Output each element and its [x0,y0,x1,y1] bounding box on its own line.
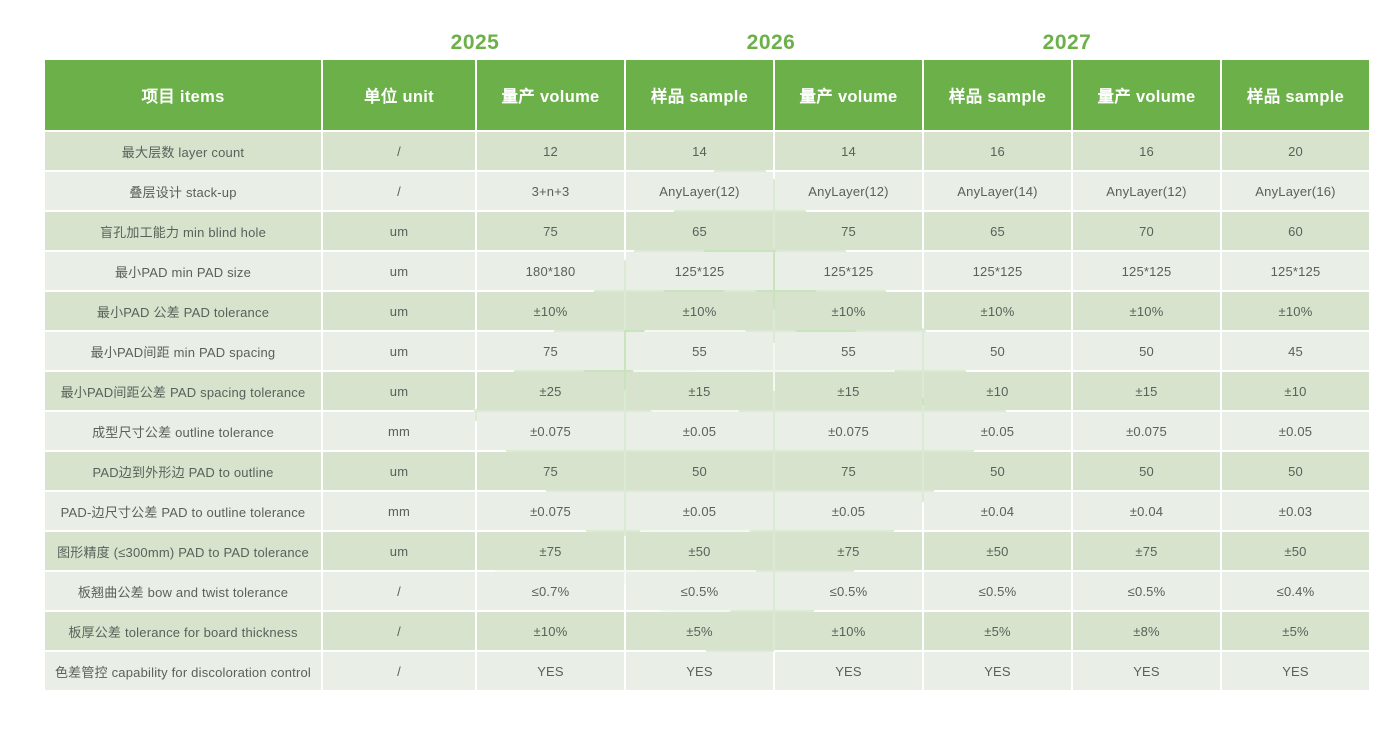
cell-2027-volume: AnyLayer(12) [1073,172,1220,210]
cell-2025-volume: 75 [477,332,624,370]
table-row: 最小PAD间距公差 PAD spacing toleranceum±25±15±… [45,372,1369,410]
cell-2026-volume: YES [775,652,922,690]
page-root: 2025 2026 2027 项目 items 单位 unit 量产 volum… [0,0,1400,728]
cell-2027-sample: 125*125 [1222,252,1369,290]
cell-2027-sample: 50 [1222,452,1369,490]
year-group-band: 2025 2026 2027 [45,28,1360,58]
cell-2025-sample: ±0.05 [626,412,773,450]
cell-2027-sample: 60 [1222,212,1369,250]
cell-2025-sample: ±5% [626,612,773,650]
cell-2027-volume: 125*125 [1073,252,1220,290]
cell-2025-volume: 12 [477,132,624,170]
cell-2027-sample: 20 [1222,132,1369,170]
cell-unit: um [323,372,475,410]
cell-2027-volume: 50 [1073,332,1220,370]
cell-2025-volume: ±0.075 [477,492,624,530]
cell-2026-volume: ±75 [775,532,922,570]
cell-unit: um [323,452,475,490]
cell-2026-volume: 75 [775,452,922,490]
cell-2026-sample: ±10% [924,292,1071,330]
table-row: 盲孔加工能力 min blind holeum756575657060 [45,212,1369,250]
cell-2027-sample: ±50 [1222,532,1369,570]
year-group-2027: 2027 [920,28,1214,58]
cell-2026-volume: 14 [775,132,922,170]
year-group-2026: 2026 [624,28,918,58]
cell-2025-volume: 75 [477,452,624,490]
cell-2026-volume: AnyLayer(12) [775,172,922,210]
cell-2025-volume: 180*180 [477,252,624,290]
cell-unit: mm [323,492,475,530]
cell-2026-sample: ±10 [924,372,1071,410]
cell-item: 最小PAD间距 min PAD spacing [45,332,321,370]
cell-unit: / [323,172,475,210]
cell-2025-volume: 3+n+3 [477,172,624,210]
cell-item: 最小PAD间距公差 PAD spacing tolerance [45,372,321,410]
table-row: 成型尺寸公差 outline tolerancemm±0.075±0.05±0.… [45,412,1369,450]
column-header-2026-sample: 样品 sample [924,60,1071,130]
spec-table: 项目 items 单位 unit 量产 volume 样品 sample 量产 … [43,58,1371,692]
cell-2026-sample: 125*125 [924,252,1071,290]
cell-2027-volume: 70 [1073,212,1220,250]
cell-item: PAD-边尺寸公差 PAD to outline tolerance [45,492,321,530]
column-header-item: 项目 items [45,60,321,130]
cell-item: 板厚公差 tolerance for board thickness [45,612,321,650]
cell-2025-sample: 50 [626,452,773,490]
cell-2026-sample: ±0.04 [924,492,1071,530]
cell-2027-sample: ±0.03 [1222,492,1369,530]
cell-2027-volume: ±15 [1073,372,1220,410]
cell-2025-sample: ≤0.5% [626,572,773,610]
cell-2027-sample: ≤0.4% [1222,572,1369,610]
cell-item: 盲孔加工能力 min blind hole [45,212,321,250]
cell-2026-volume: ±0.05 [775,492,922,530]
cell-2026-sample: 50 [924,452,1071,490]
cell-unit: mm [323,412,475,450]
column-header-2025-sample: 样品 sample [626,60,773,130]
cell-2025-sample: 55 [626,332,773,370]
cell-2027-volume: ±0.075 [1073,412,1220,450]
cell-2026-sample: AnyLayer(14) [924,172,1071,210]
cell-2025-sample: 14 [626,132,773,170]
cell-2025-volume: ±0.075 [477,412,624,450]
cell-item: 图形精度 (≤300mm) PAD to PAD tolerance [45,532,321,570]
cell-2025-sample: ±10% [626,292,773,330]
cell-2025-volume: ±10% [477,612,624,650]
cell-2027-sample: ±5% [1222,612,1369,650]
table-header: 项目 items 单位 unit 量产 volume 样品 sample 量产 … [45,60,1369,130]
cell-2025-volume: ±10% [477,292,624,330]
cell-2025-volume: 75 [477,212,624,250]
cell-2027-sample: 45 [1222,332,1369,370]
cell-2026-sample: ±5% [924,612,1071,650]
cell-2026-sample: 16 [924,132,1071,170]
table-row: 色差管控 capability for discoloration contro… [45,652,1369,690]
cell-2027-volume: ±0.04 [1073,492,1220,530]
cell-item: 成型尺寸公差 outline tolerance [45,412,321,450]
cell-unit: / [323,572,475,610]
table-row: 最小PAD间距 min PAD spacingum755555505045 [45,332,1369,370]
table-row: 图形精度 (≤300mm) PAD to PAD toleranceum±75±… [45,532,1369,570]
cell-item: 色差管控 capability for discoloration contro… [45,652,321,690]
table-row: 叠层设计 stack-up/3+n+3AnyLayer(12)AnyLayer(… [45,172,1369,210]
cell-unit: um [323,212,475,250]
cell-2025-volume: ±75 [477,532,624,570]
cell-2026-volume: ≤0.5% [775,572,922,610]
cell-2027-sample: YES [1222,652,1369,690]
spec-table-container: 项目 items 单位 unit 量产 volume 样品 sample 量产 … [45,60,1360,690]
cell-unit: / [323,612,475,650]
cell-2027-volume: 50 [1073,452,1220,490]
cell-item: PAD边到外形边 PAD to outline [45,452,321,490]
cell-unit: um [323,532,475,570]
year-group-2025: 2025 [328,28,622,58]
cell-2027-sample: ±0.05 [1222,412,1369,450]
table-row: 最小PAD min PAD sizeum180*180125*125125*12… [45,252,1369,290]
cell-2026-sample: ±50 [924,532,1071,570]
table-row: PAD边到外形边 PAD to outlineum755075505050 [45,452,1369,490]
cell-2025-volume: ±25 [477,372,624,410]
cell-2025-sample: ±50 [626,532,773,570]
cell-2025-sample: YES [626,652,773,690]
column-header-unit: 单位 unit [323,60,475,130]
cell-2026-sample: YES [924,652,1071,690]
cell-2026-volume: 55 [775,332,922,370]
cell-2027-volume: ±75 [1073,532,1220,570]
cell-2026-volume: ±15 [775,372,922,410]
cell-2027-volume: ≤0.5% [1073,572,1220,610]
cell-2026-sample: 50 [924,332,1071,370]
cell-2025-sample: 65 [626,212,773,250]
table-row: 最小PAD 公差 PAD toleranceum±10%±10%±10%±10%… [45,292,1369,330]
cell-item: 叠层设计 stack-up [45,172,321,210]
cell-2026-sample: ≤0.5% [924,572,1071,610]
cell-2027-volume: ±10% [1073,292,1220,330]
cell-item: 板翘曲公差 bow and twist tolerance [45,572,321,610]
cell-unit: um [323,292,475,330]
cell-2025-sample: AnyLayer(12) [626,172,773,210]
table-row: PAD-边尺寸公差 PAD to outline tolerancemm±0.0… [45,492,1369,530]
column-header-2026-volume: 量产 volume [775,60,922,130]
cell-2026-volume: 75 [775,212,922,250]
cell-2025-volume: ≤0.7% [477,572,624,610]
cell-unit: um [323,332,475,370]
cell-2026-volume: ±0.075 [775,412,922,450]
cell-item: 最大层数 layer count [45,132,321,170]
cell-2025-sample: ±0.05 [626,492,773,530]
cell-2026-sample: 65 [924,212,1071,250]
cell-2026-volume: ±10% [775,612,922,650]
table-row: 板翘曲公差 bow and twist tolerance/≤0.7%≤0.5%… [45,572,1369,610]
cell-unit: / [323,132,475,170]
cell-item: 最小PAD 公差 PAD tolerance [45,292,321,330]
column-header-2025-volume: 量产 volume [477,60,624,130]
column-header-2027-sample: 样品 sample [1222,60,1369,130]
cell-2027-volume: 16 [1073,132,1220,170]
cell-2027-sample: ±10 [1222,372,1369,410]
cell-2026-volume: 125*125 [775,252,922,290]
table-body: 最大层数 layer count/121414161620叠层设计 stack-… [45,132,1369,690]
cell-unit: um [323,252,475,290]
table-row: 板厚公差 tolerance for board thickness/±10%±… [45,612,1369,650]
header-row: 项目 items 单位 unit 量产 volume 样品 sample 量产 … [45,60,1369,130]
cell-2025-volume: YES [477,652,624,690]
cell-2025-sample: ±15 [626,372,773,410]
cell-2025-sample: 125*125 [626,252,773,290]
cell-2027-volume: YES [1073,652,1220,690]
cell-item: 最小PAD min PAD size [45,252,321,290]
cell-2026-volume: ±10% [775,292,922,330]
cell-2027-sample: AnyLayer(16) [1222,172,1369,210]
cell-unit: / [323,652,475,690]
cell-2027-volume: ±8% [1073,612,1220,650]
column-header-2027-volume: 量产 volume [1073,60,1220,130]
cell-2027-sample: ±10% [1222,292,1369,330]
table-row: 最大层数 layer count/121414161620 [45,132,1369,170]
cell-2026-sample: ±0.05 [924,412,1071,450]
